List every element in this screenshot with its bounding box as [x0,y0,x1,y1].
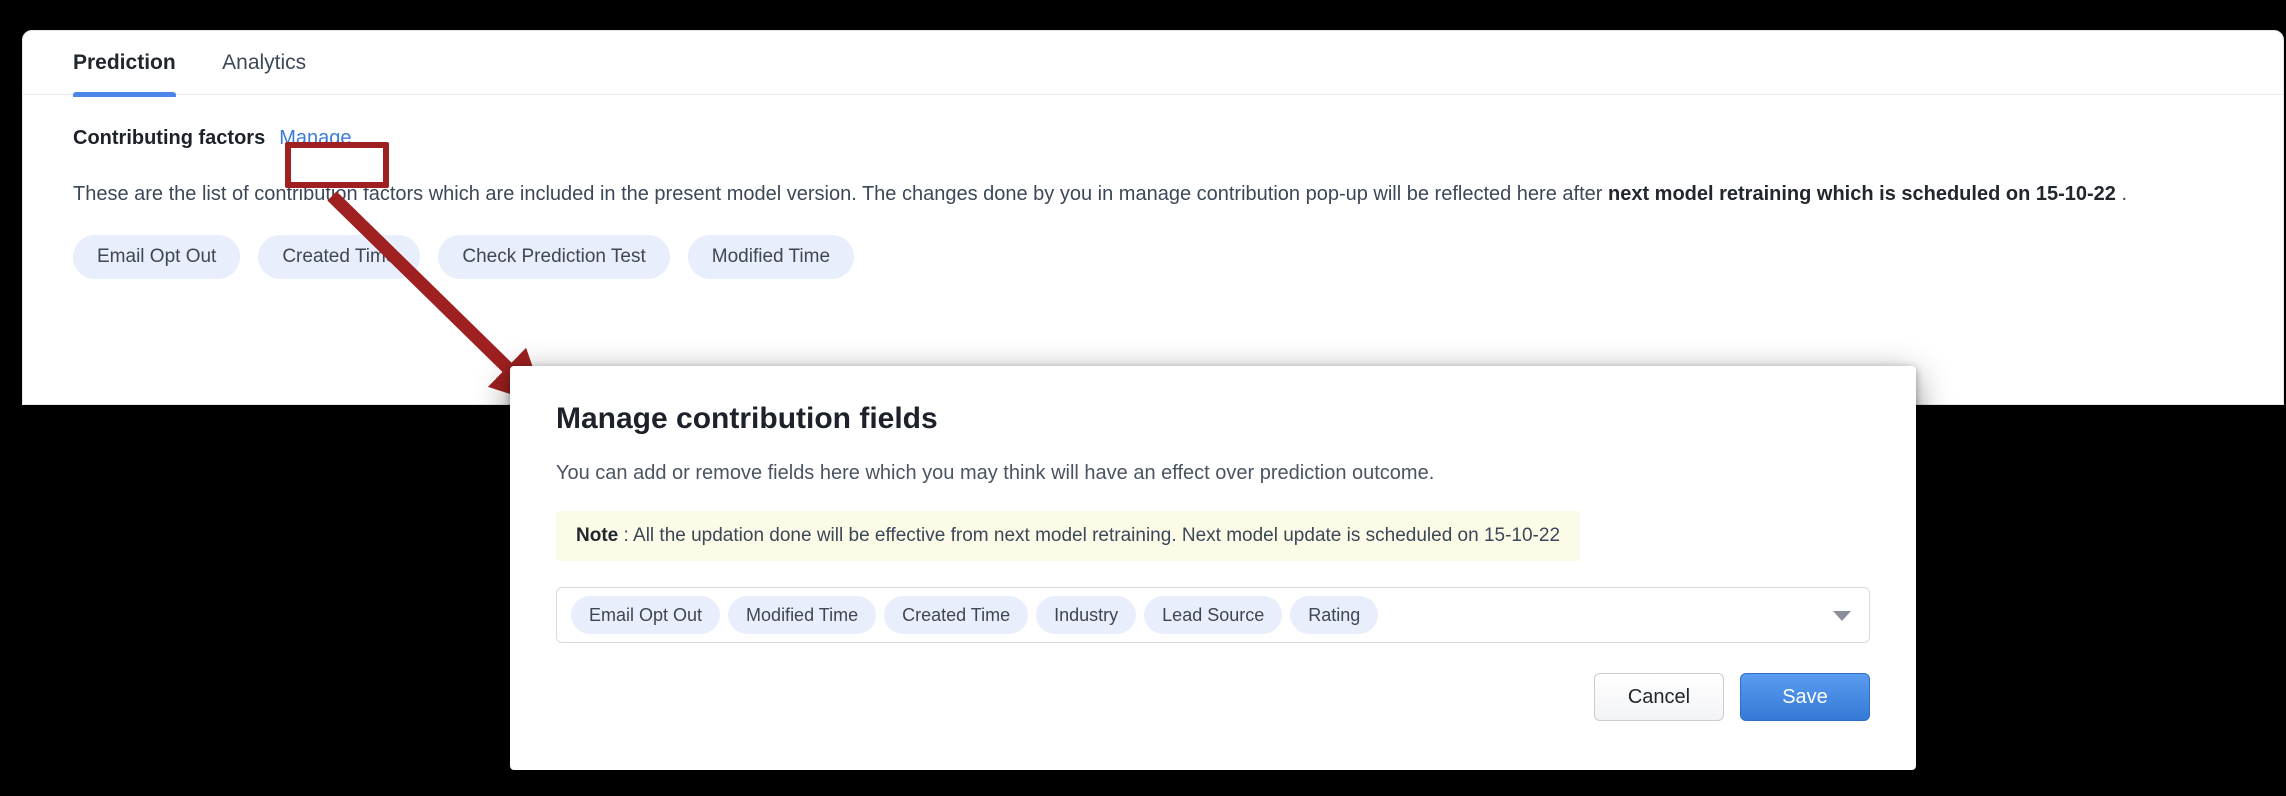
manage-link[interactable]: Manage [275,125,355,152]
note-banner: Note : All the updation done will be eff… [556,511,1580,561]
tab-prediction[interactable]: Prediction [73,31,176,95]
description-tail: . [2116,183,2127,205]
tab-analytics-label: Analytics [222,51,306,74]
save-button[interactable]: Save [1740,673,1870,721]
selected-field-chip[interactable]: Rating [1290,596,1378,634]
description-bold: next model retraining which is scheduled… [1608,183,2116,205]
contributing-factors-title: Contributing factors [73,127,265,150]
selected-field-chip[interactable]: Lead Source [1144,596,1282,634]
dialog-actions: Cancel Save [556,673,1870,721]
contributing-factors-header: Contributing factors Manage [73,125,2233,165]
tab-prediction-label: Prediction [73,51,176,74]
note-label: Note [576,525,618,546]
dialog-subtitle: You can add or remove fields here which … [556,462,1870,485]
description-lead: These are the list of contribution facto… [73,183,1608,205]
panel-body: Contributing factors Manage These are th… [23,95,2283,279]
selected-field-chip[interactable]: Email Opt Out [571,596,720,634]
tab-bar: Prediction Analytics [23,31,2283,95]
prediction-panel: Prediction Analytics Contributing factor… [22,30,2284,405]
factor-pill: Email Opt Out [73,235,240,279]
note-text: : All the updation done will be effectiv… [618,525,1560,546]
dialog-title: Manage contribution fields [556,402,1870,436]
selected-field-chip[interactable]: Created Time [884,596,1028,634]
chevron-down-icon[interactable] [1833,611,1851,621]
factor-pill: Created Time [258,235,420,279]
factor-pill: Modified Time [688,235,854,279]
contributing-factors-description: These are the list of contribution facto… [73,179,2233,209]
fields-multiselect[interactable]: Email Opt Out Modified Time Created Time… [556,587,1870,643]
factor-pill: Check Prediction Test [438,235,669,279]
selected-field-chip[interactable]: Industry [1036,596,1136,634]
screen: Prediction Analytics Contributing factor… [0,0,2286,796]
cancel-button[interactable]: Cancel [1594,673,1724,721]
tab-analytics[interactable]: Analytics [222,31,306,95]
manage-contribution-dialog: Manage contribution fields You can add o… [510,366,1916,770]
selected-field-chip[interactable]: Modified Time [728,596,876,634]
contributing-factor-pill-list: Email Opt Out Created Time Check Predict… [73,235,2233,279]
